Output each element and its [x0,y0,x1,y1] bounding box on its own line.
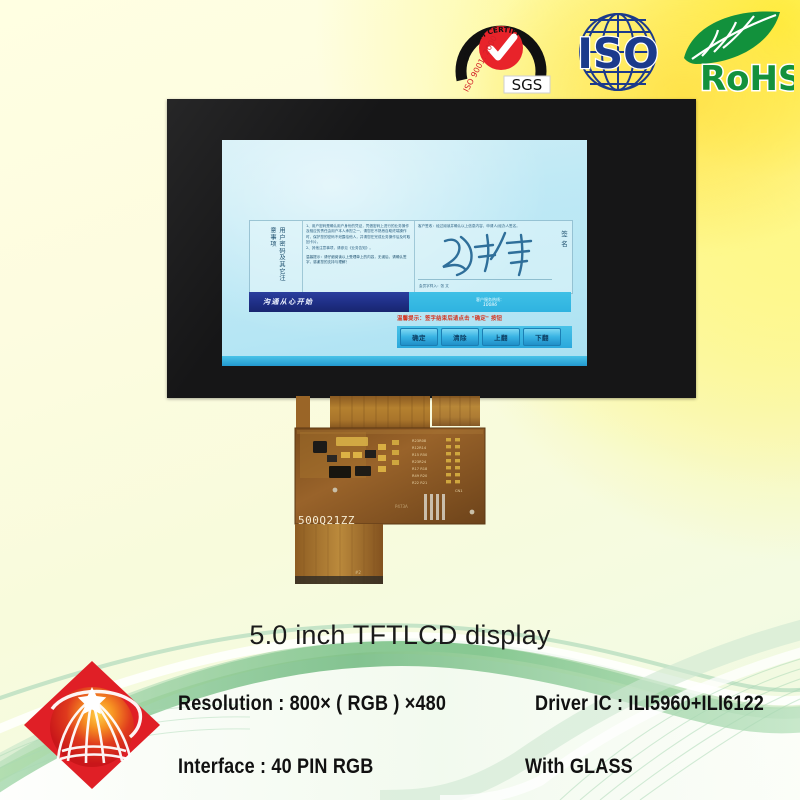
product-title: 5.0 inch TFTLCD display [0,620,800,651]
signature-rule-label: 会员字样入：张 文 [419,284,449,289]
sgs-label: SGS [512,76,543,94]
rohs-label: RoHS [700,59,794,98]
page-up-button[interactable]: 上翻 [482,328,520,346]
certification-logos: SYSTEM CERTIFICATION ISO 9001: 2000 SGS … [448,6,794,98]
form-left-label: 用户密码及其它注意事项 [267,227,285,287]
clear-button-label: 清除 [453,332,467,342]
rohs-certification-logo: RoHS [676,6,794,98]
handwritten-signature [435,225,555,281]
confirm-button-label: 确定 [412,332,426,342]
product-photo-canvas: SYSTEM CERTIFICATION ISO 9001: 2000 SGS … [0,0,800,800]
form-left-column: 用户密码及其它注意事项 [250,221,303,293]
lcd-module: 用户密码及其它注意事项 1、用户密码是确认用户身份的凭证，凭借密码上进行的业务操… [167,99,696,398]
hotline-number: 10086 [483,303,497,308]
signature-vertical-label: 签名 [559,229,570,250]
screen-button-row: 确定 清除 上翻 下翻 [397,326,572,348]
sgs-certification-logo: SYSTEM CERTIFICATION ISO 9001: 2000 SGS [448,6,560,98]
form-paragraph-1: 1、用户密码是确认用户身份的凭证，凭借密码上进行的业务操作及相应的责任由用户本人… [306,224,411,246]
slogan-banner: 沟通从心开始 [249,292,409,312]
form-signature-column: 客户签收：经过阅读并确认以上信息内容，申请人/经办人签名。 [415,221,572,293]
clear-button[interactable]: 清除 [441,328,479,346]
company-brand-logo [18,655,166,795]
page-down-button[interactable]: 下翻 [523,328,561,346]
form-note: 温馨提示：请仔细阅读以上受理单上的内容，无误后，请确认签字，感谢您的支持与理解！ [306,255,411,266]
slogan-text: 沟通从心开始 [263,297,313,307]
signature-rule [418,279,552,280]
page-up-button-label: 上翻 [494,332,508,342]
spec-driver-ic: Driver IC : ILI5960+ILI6122 [535,692,764,716]
spec-interface: Interface : 40 PIN RGB [178,755,373,779]
spec-glass: With GLASS [525,755,633,779]
screen-bottom-bar [222,356,587,366]
form-terms-column: 1、用户密码是确认用户身份的凭证，凭借密码上进行的业务操作及相应的责任由用户本人… [303,221,415,293]
spec-resolution: Resolution : 800× ( RGB ) ×480 [178,692,446,716]
form-paragraph-2: 2、其他注意事项，请参见《业务告知》。 [306,246,411,251]
confirm-hint-text: 温馨提示：签字结束后请点击 "确定" 按钮 [397,314,572,322]
iso-certification-logo: ISO [560,6,676,98]
iso-label: ISO [577,29,659,78]
page-down-button-label: 下翻 [535,332,549,342]
hotline-banner: 客户服务热线： 10086 [409,292,571,312]
signature-form-card: 用户密码及其它注意事项 1、用户密码是确认用户身份的凭证，凭借密码上进行的业务操… [249,220,573,294]
lcd-active-area: 用户密码及其它注意事项 1、用户密码是确认用户身份的凭证，凭借密码上进行的业务操… [222,140,587,366]
confirm-button[interactable]: 确定 [400,328,438,346]
